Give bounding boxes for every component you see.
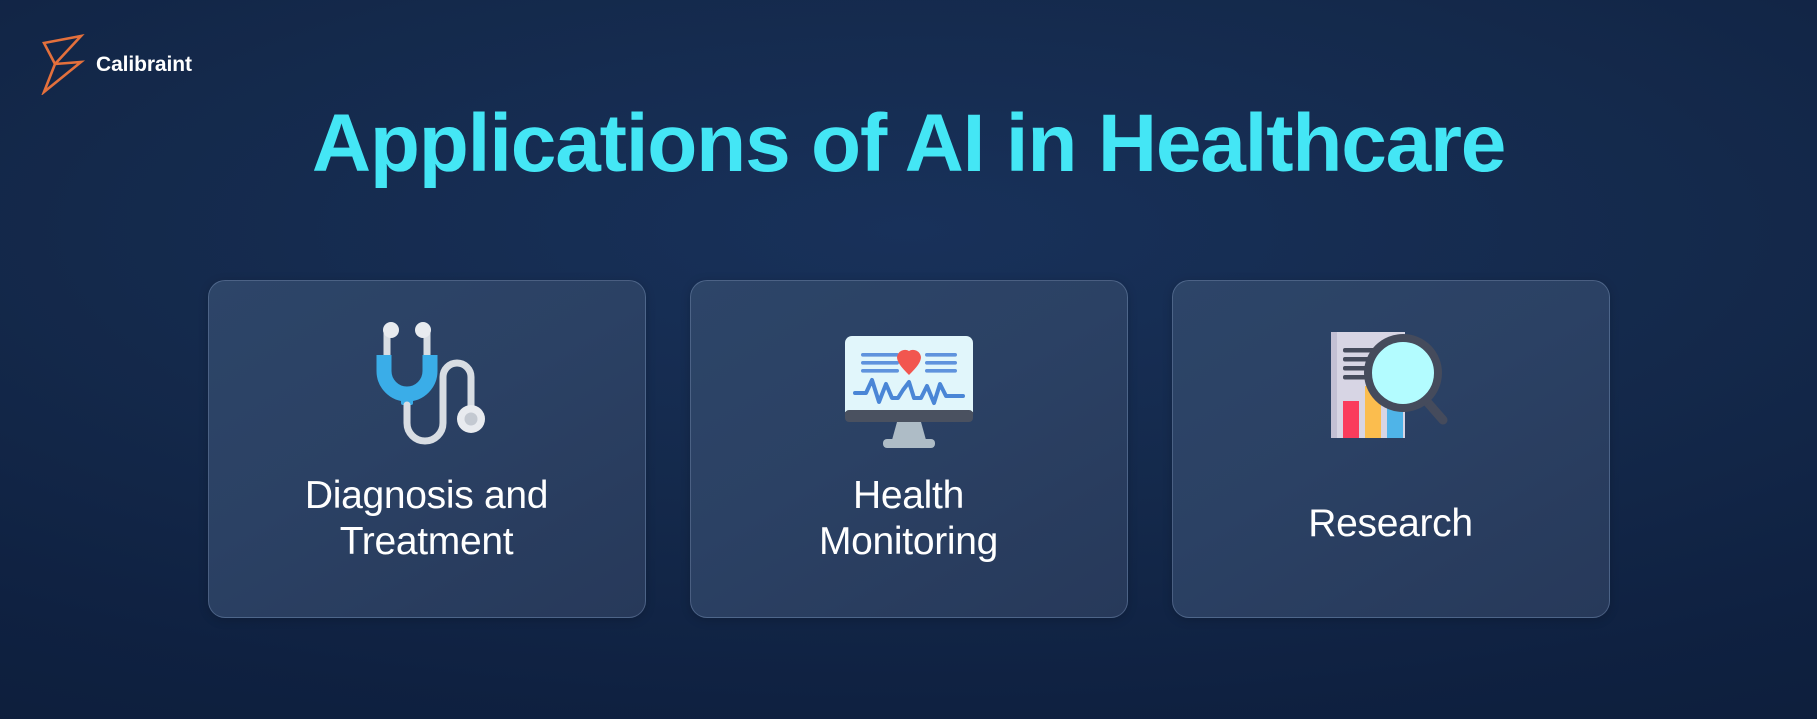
card-label: Research <box>1173 501 1609 547</box>
card-health-monitoring[interactable]: Health Monitoring <box>690 280 1128 618</box>
heart-rate-monitor-icon <box>839 320 979 460</box>
cards-row: Diagnosis and Treatment <box>0 280 1817 618</box>
card-icon-wrapper <box>1327 315 1455 465</box>
brand-logo[interactable]: Calibraint <box>38 33 192 95</box>
research-magnifier-chart-icon <box>1327 324 1455 456</box>
slide-canvas: Calibraint Applications of AI in Healthc… <box>0 0 1817 719</box>
page-title: Applications of AI in Healthcare <box>0 100 1817 189</box>
card-diagnosis-and-treatment[interactable]: Diagnosis and Treatment <box>208 280 646 618</box>
card-research[interactable]: Research <box>1172 280 1610 618</box>
brand-name: Calibraint <box>96 54 192 75</box>
card-icon-wrapper <box>361 315 493 465</box>
calibraint-z-mark-icon <box>38 33 86 95</box>
card-label: Health Monitoring <box>691 473 1127 565</box>
card-label: Diagnosis and Treatment <box>209 473 645 565</box>
card-icon-wrapper <box>839 315 979 465</box>
stethoscope-icon <box>361 315 493 465</box>
